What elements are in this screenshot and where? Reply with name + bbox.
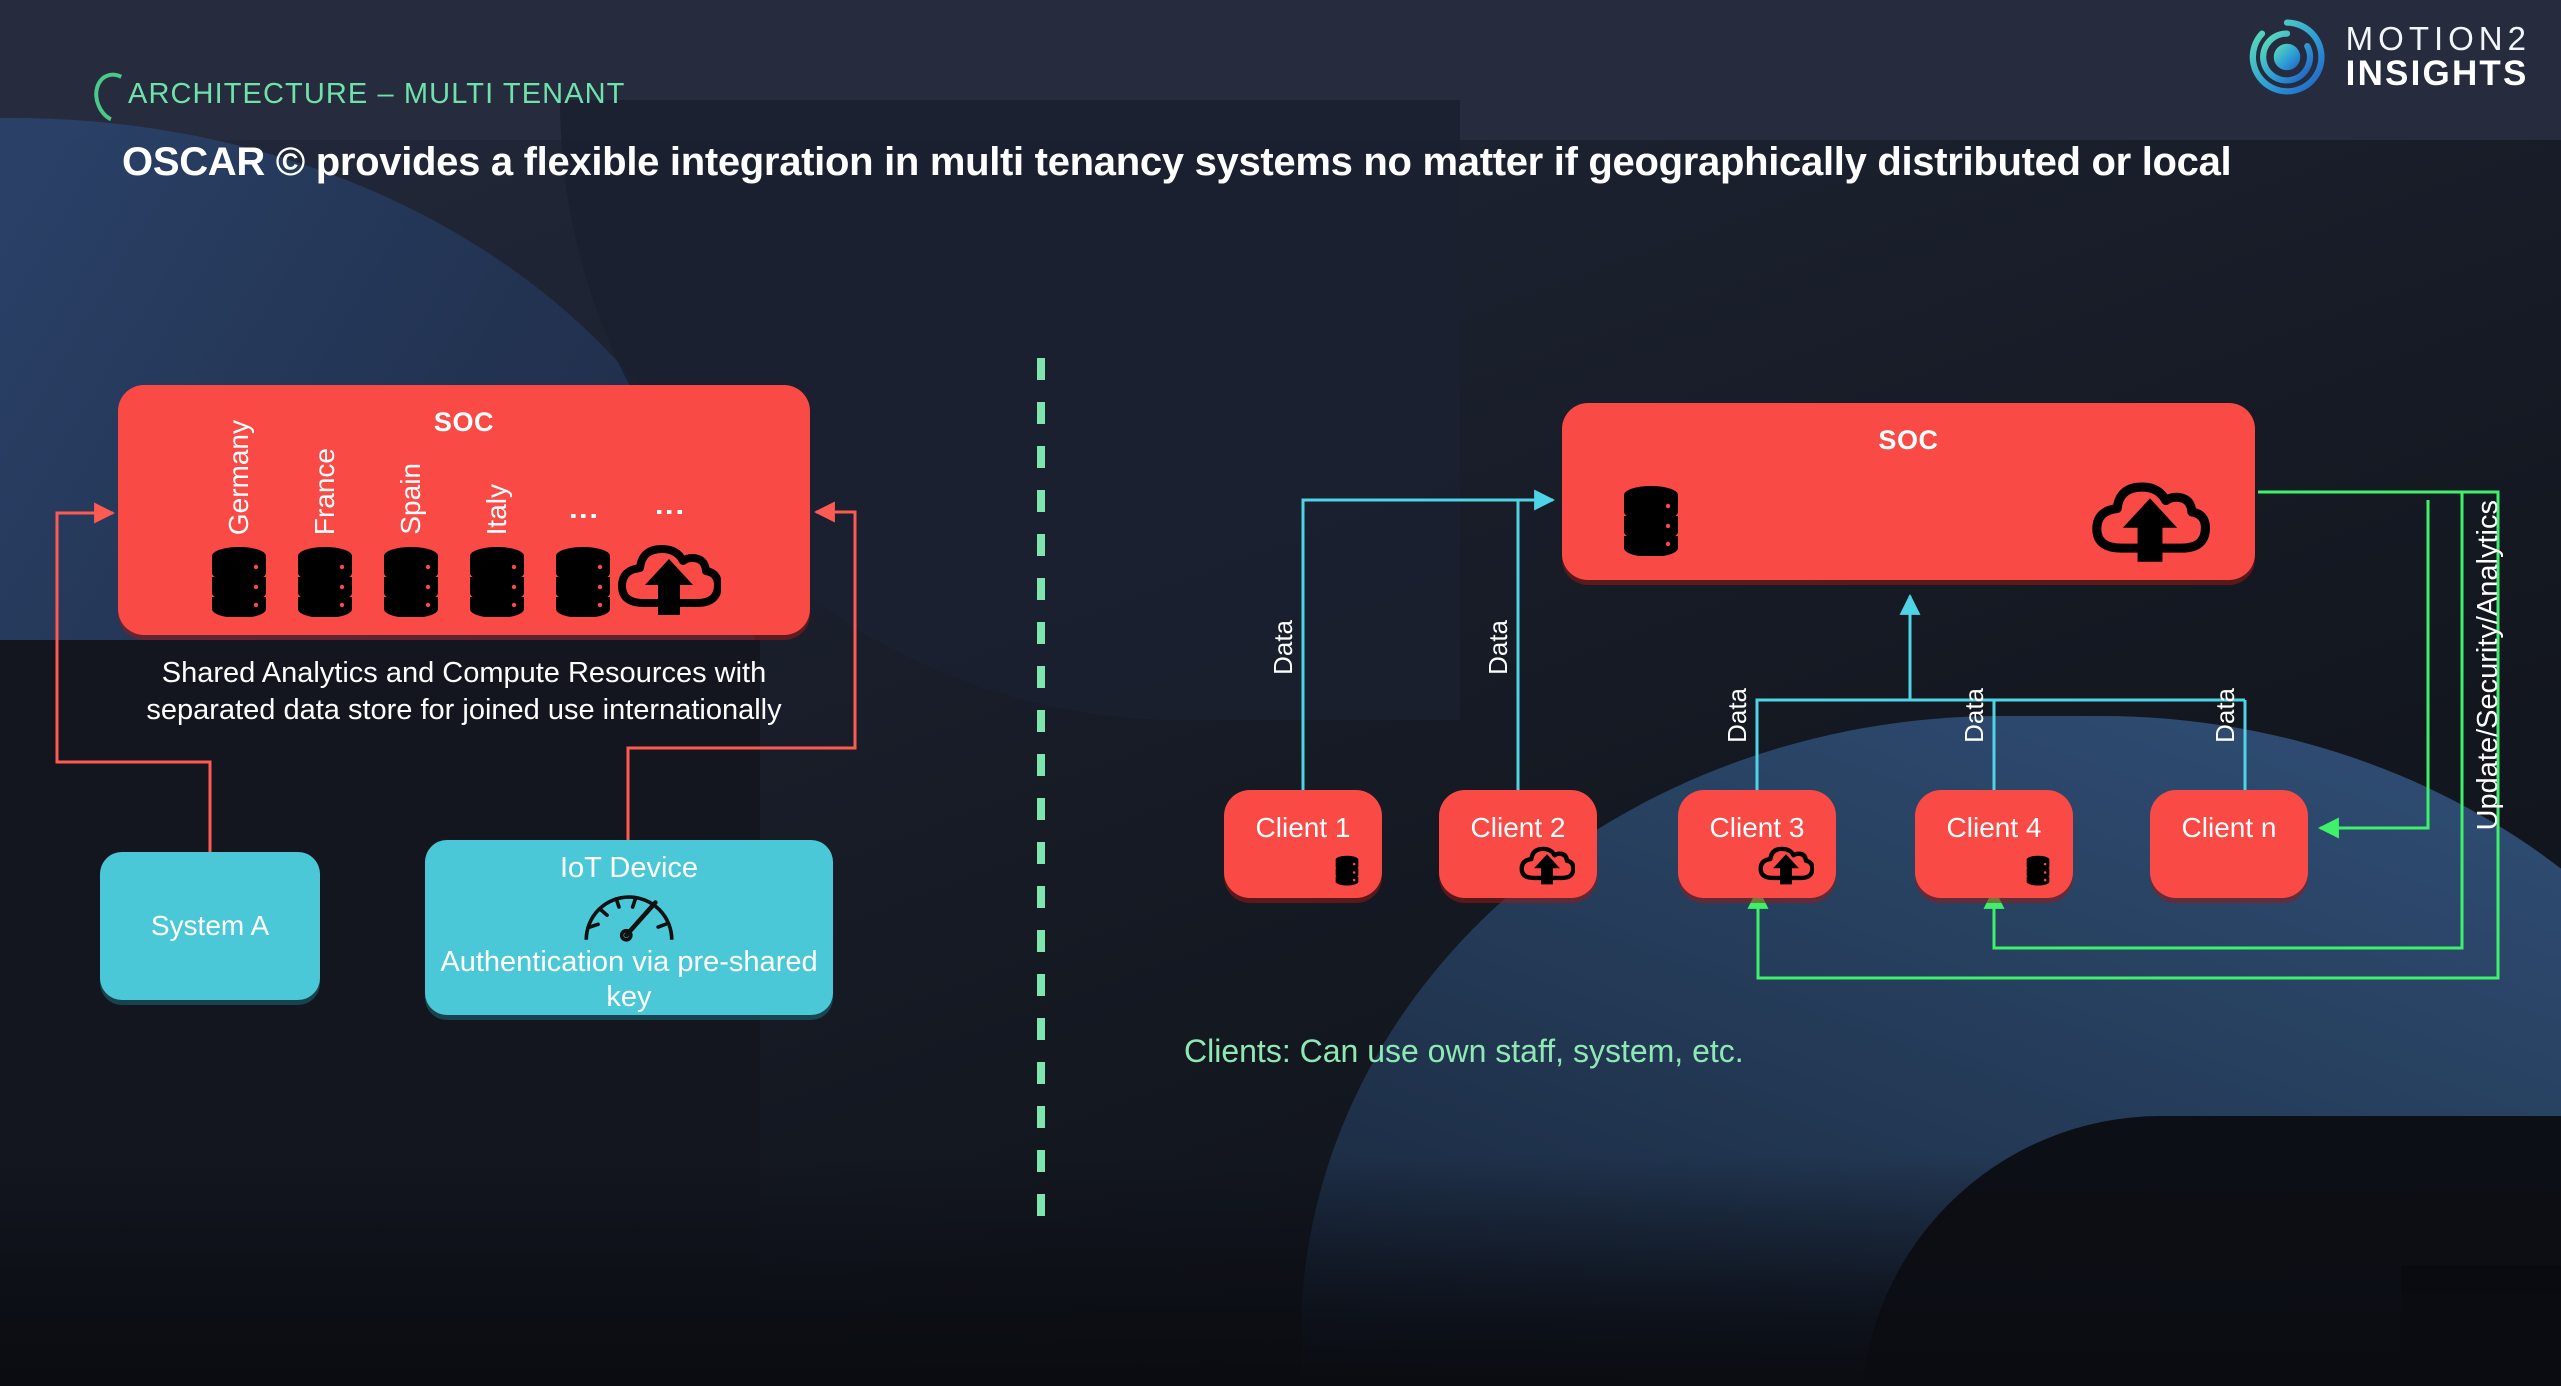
gauge-icon — [574, 887, 684, 943]
database-icon — [466, 545, 528, 617]
database-icon — [552, 545, 614, 617]
section-divider — [1037, 358, 1045, 1230]
client-label: Client 1 — [1224, 812, 1382, 844]
cloud-upload-icon — [1519, 844, 1575, 886]
logo-line-1: MOTION2 — [2346, 22, 2531, 56]
page-kicker: ARCHITECTURE – MULTI TENANT — [128, 78, 626, 111]
cloud-upload-icon — [2090, 478, 2210, 564]
soc-column-france: France — [282, 448, 368, 617]
soc-column-label: Spain — [395, 463, 427, 535]
brand-logo-text: MOTION2 INSIGHTS — [2346, 22, 2531, 91]
logo-line-2: INSIGHTS — [2346, 56, 2531, 92]
client-label: Client 2 — [1439, 812, 1597, 844]
database-icon — [2025, 854, 2051, 886]
database-icon — [208, 545, 270, 617]
soc-column-italy: Italy — [454, 484, 540, 617]
right-soc-title: SOC — [1562, 425, 2255, 456]
soc-column-more-2: ⋮ — [626, 491, 712, 617]
client-label: Client n — [2150, 812, 2308, 844]
client-4-box[interactable]: Client 4 — [1915, 790, 2073, 898]
clients-caption: Clients: Can use own staff, system, etc. — [1184, 1033, 1744, 1070]
database-icon — [294, 545, 356, 617]
data-label-client-3: Data — [1722, 688, 1753, 743]
client-n-box[interactable]: Client n — [2150, 790, 2308, 898]
page-title: OSCAR © provides a flexible integration … — [122, 140, 2231, 185]
iot-device-subtitle: Authentication via pre-shared key — [425, 945, 833, 1015]
soc-column-more-1: ⋮ — [540, 495, 626, 617]
cloud-upload-icon — [1758, 844, 1814, 886]
client-1-box[interactable]: Client 1 — [1224, 790, 1382, 898]
data-label-client-4: Data — [1959, 688, 1990, 743]
cloud-upload-icon — [617, 541, 721, 617]
left-soc-box[interactable]: SOC Germany France — [118, 385, 810, 635]
data-label-client-2: Data — [1483, 620, 1514, 675]
data-label-client-1: Data — [1268, 620, 1299, 675]
system-a-label: System A — [151, 910, 269, 942]
brand-logo: MOTION2 INSIGHTS — [2248, 18, 2531, 96]
system-a-box[interactable]: System A — [100, 852, 320, 1000]
soc-column-label: France — [309, 448, 341, 535]
motion2-spiral-icon — [2248, 18, 2326, 96]
left-soc-caption: Shared Analytics and Compute Resources w… — [118, 655, 810, 729]
background-bottom-fade — [0, 1156, 2561, 1386]
client-label: Client 4 — [1915, 812, 2073, 844]
client-3-box[interactable]: Client 3 — [1678, 790, 1836, 898]
soc-column-label: ⋮ — [652, 491, 687, 527]
soc-column-label: ⋮ — [566, 495, 601, 531]
return-bus-label: Update/Security/Analytics — [2472, 500, 2505, 830]
iot-device-title: IoT Device — [560, 852, 698, 885]
slide-canvas: ARCHITECTURE – MULTI TENANT OSCAR © prov… — [0, 0, 2561, 1386]
soc-column-label: Italy — [481, 484, 513, 535]
iot-device-box[interactable]: IoT Device Authentication via pre-shared… — [425, 840, 833, 1015]
database-icon — [1620, 484, 1682, 556]
database-icon — [1334, 854, 1360, 886]
data-label-client-n: Data — [2210, 688, 2241, 743]
client-label: Client 3 — [1678, 812, 1836, 844]
soc-column-spain: Spain — [368, 463, 454, 617]
right-soc-box[interactable]: SOC — [1562, 403, 2255, 580]
database-icon — [380, 545, 442, 617]
left-soc-columns: Germany France — [196, 417, 796, 617]
client-2-box[interactable]: Client 2 — [1439, 790, 1597, 898]
soc-column-label: Germany — [223, 420, 255, 535]
soc-column-germany: Germany — [196, 420, 282, 617]
